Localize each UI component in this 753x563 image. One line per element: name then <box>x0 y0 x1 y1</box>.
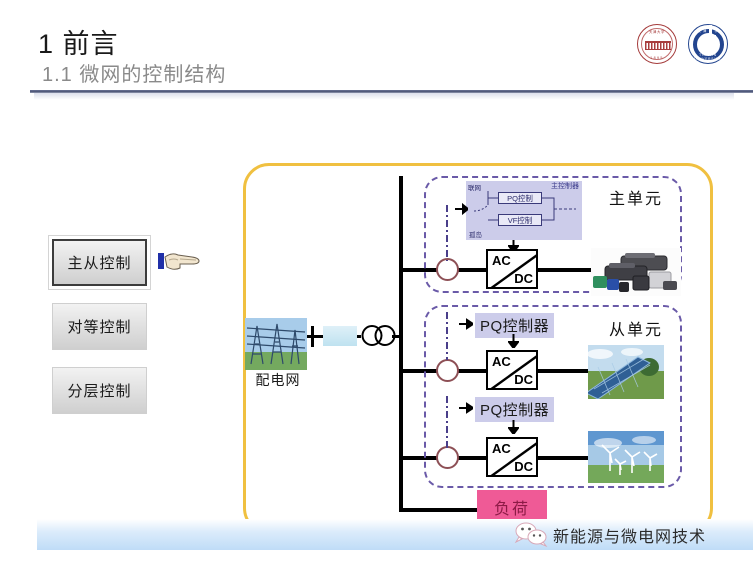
converter-3: AC DC <box>486 437 538 477</box>
sidebar-item-master-slave-control[interactable]: 主从控制 <box>52 239 147 286</box>
converter-2-ac-label: AC <box>492 354 511 369</box>
converter-3-dc-label: DC <box>514 459 533 474</box>
pq-controller-arrow-1-icon <box>459 318 473 330</box>
header-divider-shadow <box>34 93 734 100</box>
university-logo-blue-icon: 天 津 大 学 TIANJIN UNIVERSITY <box>688 24 728 64</box>
master-controller-wiring <box>466 181 582 240</box>
feeder-line-load <box>399 508 477 512</box>
measurement-link-3 <box>443 396 451 448</box>
logo-bottom-text: 1895 <box>638 56 676 60</box>
page-title: 1 前言 <box>38 22 119 61</box>
slave-unit-label: 从单元 <box>609 316 663 340</box>
converter-2-dc-label: DC <box>514 372 533 387</box>
pq-controller-arrow-2-icon <box>459 402 473 414</box>
wechat-icon <box>513 521 549 547</box>
substation-photo <box>245 318 307 370</box>
solar-pv-panel-photo <box>588 345 664 399</box>
logo-bottom-text: TIANJIN UNIVERSITY <box>689 53 727 61</box>
measurement-link-2 <box>443 312 451 360</box>
master-unit-label: 主单元 <box>609 185 663 209</box>
tie-line-horizontal <box>307 335 323 338</box>
sidebar-item-hierarchical-control[interactable]: 分层控制 <box>52 367 147 414</box>
diesel-generator-photo <box>591 248 681 296</box>
page-subtitle: 1.1 微网的控制结构 <box>42 58 226 87</box>
pointing-hand-icon <box>158 243 202 281</box>
converter-1-dc-label: DC <box>514 271 533 286</box>
footer-text: 新能源与微电网技术 <box>553 523 706 547</box>
converter-1: AC DC <box>486 249 538 289</box>
pq-controller-box-2: PQ控制器 <box>475 397 554 422</box>
distribution-network-label: 配电网 <box>243 370 313 390</box>
converter-1-ac-label: AC <box>492 253 511 268</box>
master-controller-panel: 联网 主控制器 PQ控制 VF控制 孤岛 <box>466 181 582 240</box>
wind-turbine-photo <box>588 431 664 483</box>
pq-command-arrow-2-icon <box>508 420 519 434</box>
microgrid-bus <box>399 176 403 511</box>
logo-building-glyph <box>645 41 671 50</box>
logo-u-glyph <box>702 35 716 52</box>
converter-2: AC DC <box>486 350 538 390</box>
switch-block <box>323 326 357 346</box>
measurement-link-1 <box>443 205 451 261</box>
master-controller-input-arrow-icon <box>455 203 468 215</box>
converter-3-ac-label: AC <box>492 441 511 456</box>
sidebar-item-peer-control[interactable]: 对等控制 <box>52 303 147 350</box>
logo-top-text: 天 津 大 学 <box>689 28 727 33</box>
university-logo-red-icon: 天津大学 1895 <box>637 24 677 64</box>
pq-command-arrow-1-icon <box>508 334 519 348</box>
logo-top-text: 天津大学 <box>638 29 676 34</box>
